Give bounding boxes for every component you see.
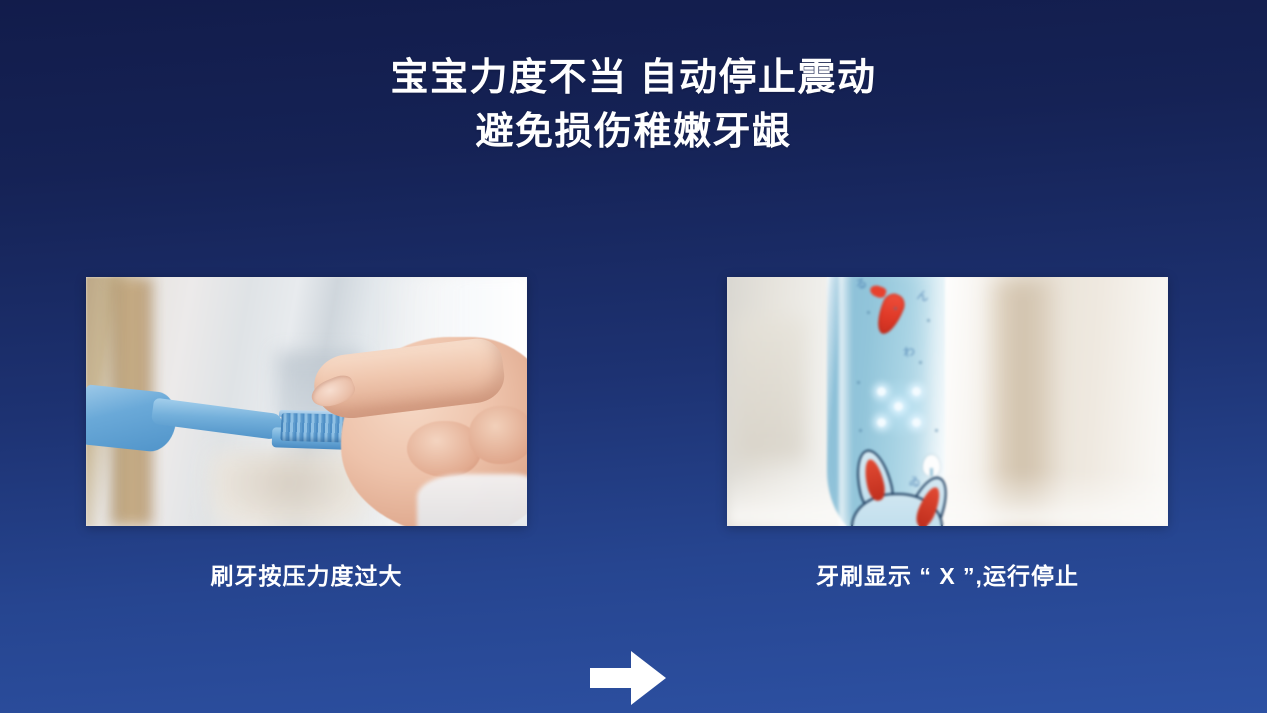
led-dot [877,387,886,396]
decor-dot [894,307,897,310]
decor-dot [935,429,938,432]
slide-title: 宝宝力度不当 自动停止震动 避免损伤稚嫩牙龈 [0,52,1267,160]
decor-dot [927,319,930,322]
slide-root: { "slide": { "background": { "top_color"… [0,0,1267,713]
panel-left: 刷牙按压力度过大 [86,277,527,526]
caption-right: 牙刷显示 “ X ”,运行停止 [727,557,1168,591]
led-dot [912,387,921,396]
caption-left: 刷牙按压力度过大 [86,557,527,591]
comparison-row: 刷牙按压力度过大 る ん わ ゐ [0,277,1267,537]
led-x-indicator [877,387,921,427]
decor-dot [859,429,862,432]
decor-dot [857,381,860,384]
photo-toothbrush-led-x: る ん わ ゐ [727,277,1168,526]
sleeve [417,474,527,526]
photo-finger-pressing-toothbrush [86,277,527,526]
panel-right: る ん わ ゐ [727,277,1168,526]
background-lower-glow [727,471,1168,526]
led-dot [894,402,903,411]
led-dot [912,418,921,427]
tooth-icon [923,455,940,476]
decor-dot [919,361,922,364]
arrow-right-icon [588,649,668,707]
title-line-2: 避免损伤稚嫩牙龈 [0,106,1267,160]
decor-dot [867,311,870,314]
handle-gloss-highlight [839,277,853,526]
background-bar [736,317,807,461]
led-dot [877,418,886,427]
knuckle-lower [469,406,527,464]
title-line-1: 宝宝力度不当 自动停止震动 [0,52,1267,106]
